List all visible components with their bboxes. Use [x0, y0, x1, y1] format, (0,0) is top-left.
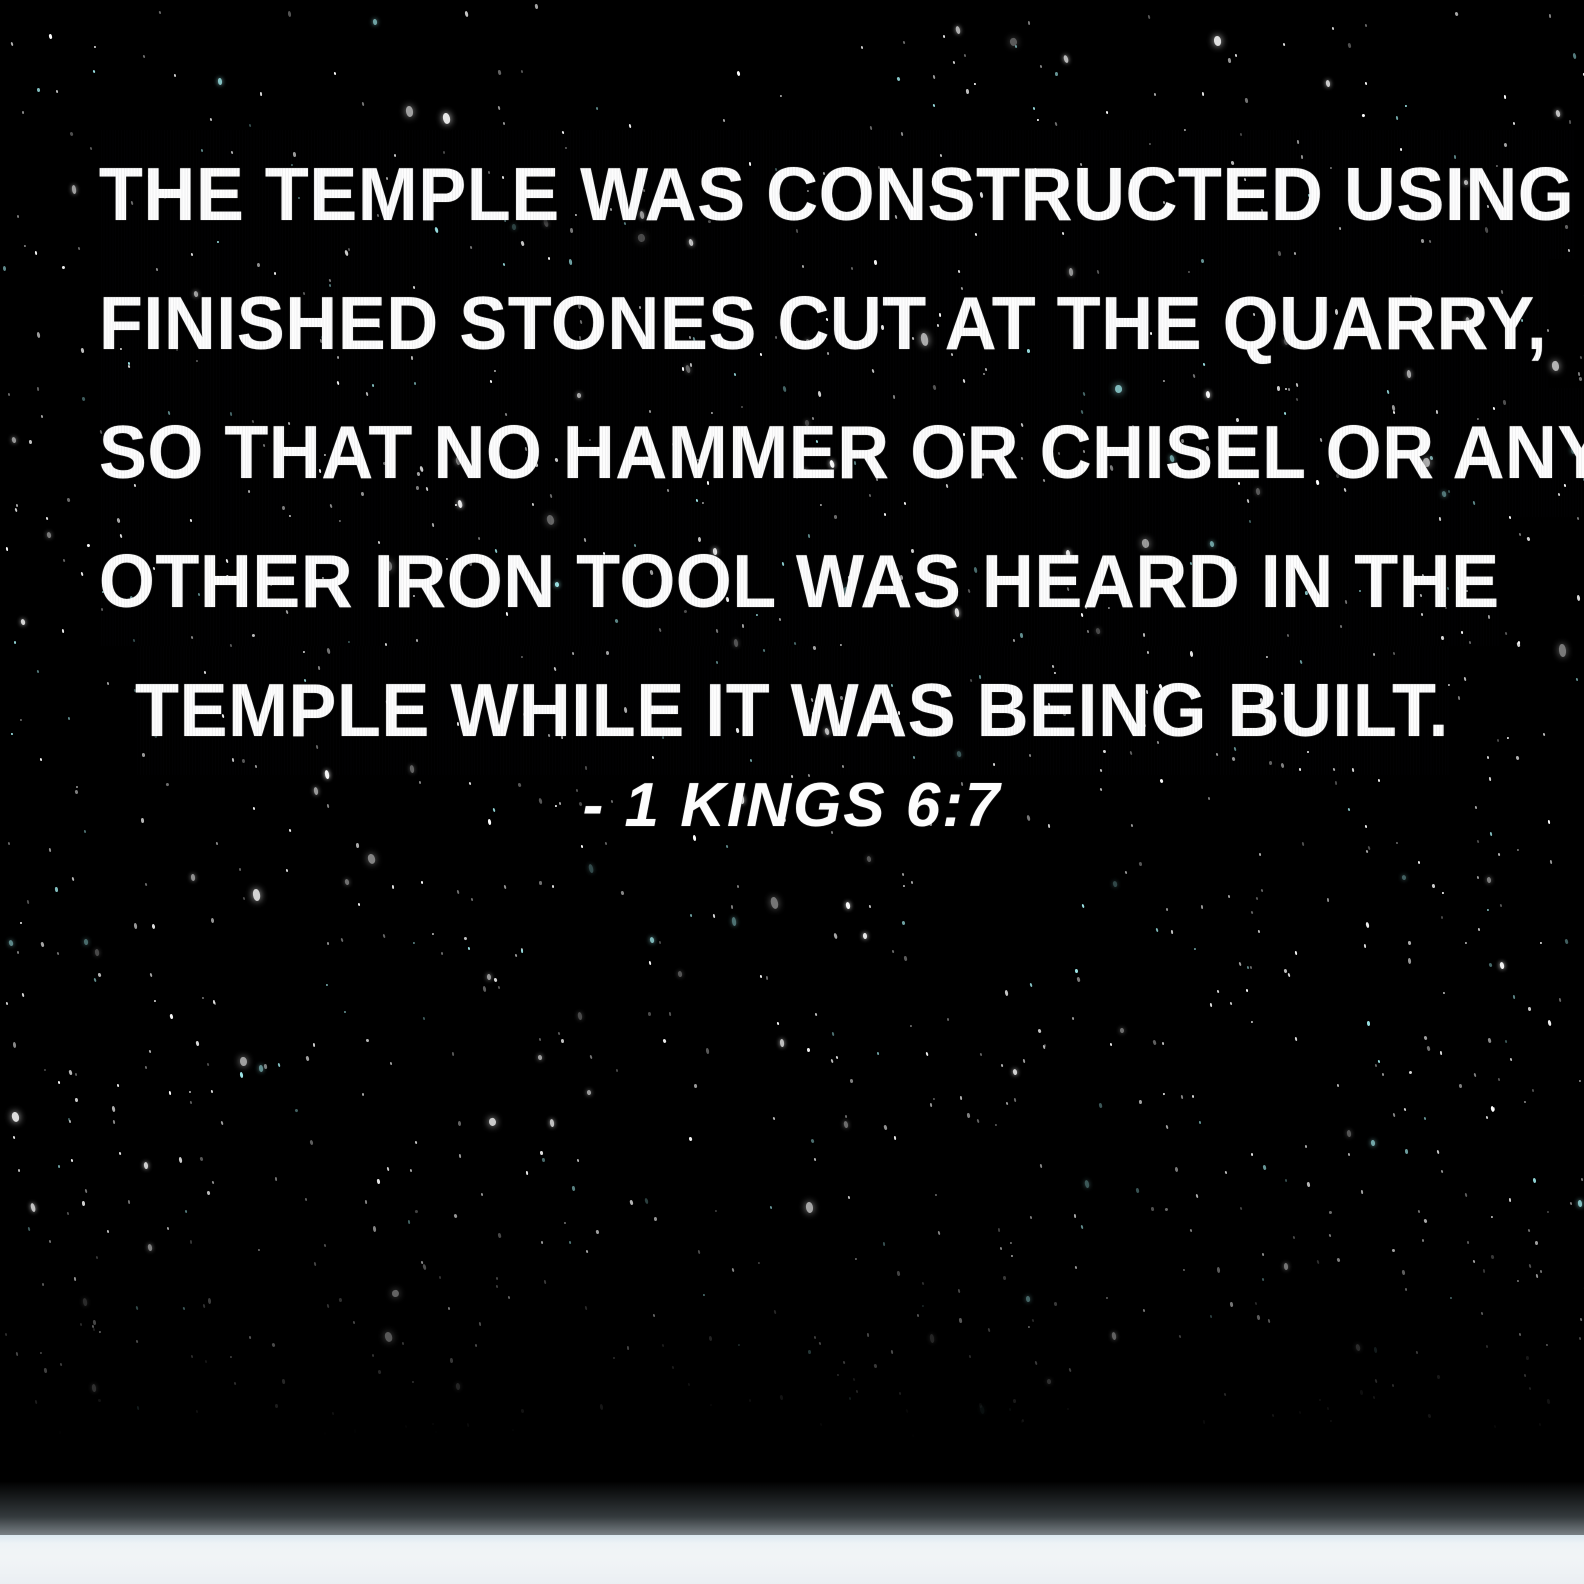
star — [678, 971, 683, 977]
star — [850, 1078, 854, 1082]
star — [586, 1250, 589, 1253]
star — [295, 1109, 299, 1113]
star — [814, 1336, 816, 1339]
star — [1517, 849, 1519, 852]
star — [95, 949, 100, 956]
star — [644, 1198, 649, 1204]
star — [43, 1367, 47, 1373]
star — [80, 1323, 82, 1326]
verse-line-2-text: FINISHED STONES CUT AT THE QUARRY, — [99, 259, 1547, 388]
star — [1250, 966, 1253, 970]
star — [819, 1342, 822, 1346]
star — [42, 1283, 44, 1286]
star — [1068, 1368, 1071, 1372]
star — [221, 1121, 224, 1125]
star — [496, 1276, 498, 1279]
star — [1483, 1268, 1485, 1272]
star — [74, 1072, 76, 1075]
star — [564, 1221, 566, 1223]
star — [689, 1137, 693, 1141]
star — [894, 1136, 897, 1140]
star — [876, 1052, 879, 1055]
star — [1106, 111, 1108, 114]
verse-line-1: THE TEMPLE WAS CONSTRUCTED USING — [99, 130, 1485, 259]
star — [1427, 1414, 1431, 1419]
star — [343, 1010, 345, 1012]
star — [705, 1048, 709, 1054]
star — [862, 933, 867, 940]
star — [309, 1140, 313, 1146]
star — [1138, 862, 1142, 867]
star — [1441, 891, 1443, 894]
star — [378, 1370, 382, 1375]
star — [92, 1328, 95, 1332]
star — [860, 46, 862, 49]
star — [1407, 940, 1411, 944]
star — [421, 881, 423, 884]
star — [183, 1307, 186, 1311]
star — [1288, 972, 1291, 976]
star — [539, 1038, 541, 1041]
star — [1365, 82, 1368, 85]
star — [1259, 853, 1261, 856]
star — [1262, 1165, 1266, 1170]
star — [1029, 1216, 1032, 1219]
star — [258, 1065, 263, 1072]
star — [1209, 1003, 1212, 1007]
verse-line-3-text: SO THAT NO HAMMER OR CHISEL OR ANY — [99, 388, 1584, 517]
star — [91, 1384, 96, 1393]
star — [452, 1051, 455, 1055]
star — [481, 1192, 483, 1195]
star — [1473, 1073, 1476, 1077]
star — [820, 1422, 823, 1425]
star — [1472, 1260, 1475, 1263]
star — [324, 1244, 327, 1247]
star — [1191, 1094, 1193, 1097]
star — [1179, 1335, 1182, 1339]
star — [1360, 1190, 1363, 1194]
star — [1032, 106, 1034, 109]
star — [560, 1039, 563, 1044]
star — [697, 1250, 700, 1254]
star — [994, 1124, 996, 1127]
star — [1136, 1188, 1140, 1193]
star — [326, 984, 328, 987]
star — [1564, 938, 1568, 943]
star — [503, 122, 505, 125]
star — [1151, 1206, 1155, 1210]
star — [1228, 895, 1231, 898]
star — [1558, 998, 1561, 1002]
star — [731, 1268, 734, 1272]
star — [432, 932, 434, 935]
star — [58, 1165, 60, 1168]
star — [1505, 1040, 1508, 1043]
star — [1499, 962, 1505, 970]
star — [362, 1093, 364, 1096]
star — [1148, 15, 1151, 19]
verse-line-4-text: OTHER IRON TOOL WAS HEARD IN THE — [99, 517, 1500, 646]
star — [372, 1353, 374, 1356]
star — [963, 54, 966, 58]
star — [1202, 92, 1205, 96]
star — [1012, 1068, 1018, 1075]
star — [1478, 928, 1480, 932]
star — [757, 1262, 760, 1265]
star — [1459, 1083, 1463, 1088]
star — [974, 83, 976, 86]
star — [1512, 995, 1515, 999]
star — [1526, 1356, 1530, 1361]
star — [1110, 1043, 1112, 1046]
star — [11, 41, 14, 45]
star — [313, 1262, 316, 1266]
star — [423, 1017, 426, 1021]
star — [847, 1196, 850, 1200]
star — [853, 1378, 856, 1381]
verse-line-3: SO THAT NO HAMMER OR CHISEL OR ANY — [99, 388, 1485, 517]
star — [650, 936, 656, 943]
star — [312, 1043, 314, 1047]
star — [152, 924, 156, 929]
star — [508, 1295, 511, 1298]
star — [1440, 1170, 1443, 1173]
star — [1527, 1229, 1530, 1232]
star — [987, 1327, 990, 1331]
star — [1539, 1270, 1541, 1273]
star — [206, 1191, 210, 1195]
star — [830, 1058, 833, 1062]
star — [340, 937, 343, 941]
star — [902, 40, 905, 43]
star — [1027, 21, 1030, 25]
star — [1067, 1408, 1069, 1411]
star — [1239, 962, 1242, 966]
star — [1382, 1073, 1384, 1076]
star — [1535, 1274, 1538, 1278]
star — [1528, 1007, 1532, 1011]
star — [1229, 1302, 1233, 1307]
star — [30, 1203, 37, 1213]
star — [1524, 1374, 1527, 1377]
star — [1054, 122, 1057, 126]
star — [726, 845, 729, 848]
star — [1465, 942, 1467, 945]
star — [96, 1256, 99, 1260]
star — [1329, 1234, 1332, 1238]
star — [249, 1336, 251, 1339]
star — [1201, 905, 1203, 909]
star — [1210, 1315, 1213, 1318]
star — [558, 1031, 561, 1034]
star — [1228, 58, 1232, 64]
star — [190, 874, 195, 881]
star — [1081, 903, 1084, 907]
star — [577, 1011, 583, 1020]
star — [832, 1032, 835, 1036]
star — [1250, 910, 1253, 913]
star — [1261, 1278, 1263, 1281]
star — [17, 951, 19, 954]
star — [1111, 1332, 1117, 1341]
star — [8, 939, 14, 946]
star — [773, 1117, 776, 1121]
star — [1022, 1419, 1025, 1423]
star — [252, 888, 260, 900]
star — [391, 885, 393, 889]
star — [1046, 1379, 1051, 1385]
star — [1579, 1337, 1582, 1340]
star — [202, 1304, 205, 1308]
star — [191, 1355, 194, 1358]
star — [1256, 1315, 1260, 1321]
star — [910, 1025, 912, 1028]
star — [1499, 904, 1502, 908]
star — [912, 1433, 915, 1436]
star — [1577, 1200, 1582, 1208]
star — [150, 972, 153, 976]
star — [1416, 1350, 1419, 1354]
star — [1404, 1108, 1407, 1112]
star — [1408, 958, 1412, 964]
star — [185, 1210, 187, 1213]
star — [1498, 852, 1501, 855]
star — [1190, 1228, 1193, 1232]
star — [1028, 1326, 1031, 1329]
star — [113, 1119, 116, 1123]
star — [366, 1039, 369, 1043]
star — [1014, 1097, 1017, 1101]
star — [1000, 1063, 1003, 1066]
star — [1282, 42, 1285, 45]
star — [708, 1336, 712, 1341]
star — [68, 1070, 72, 1076]
star — [1054, 72, 1058, 77]
star — [777, 1022, 780, 1025]
star — [1037, 118, 1039, 121]
star — [1283, 969, 1287, 974]
star — [621, 890, 625, 895]
star — [1359, 1390, 1363, 1396]
star — [233, 1381, 236, 1384]
star — [1074, 1214, 1076, 1218]
star — [1395, 116, 1398, 120]
star — [1239, 1207, 1242, 1210]
star — [1374, 1379, 1377, 1383]
star — [20, 922, 23, 925]
star — [1327, 1407, 1330, 1411]
star — [207, 1298, 211, 1304]
star — [1569, 120, 1571, 124]
star — [957, 1289, 960, 1293]
star — [1405, 1287, 1407, 1290]
star — [134, 923, 138, 929]
star — [1244, 98, 1248, 104]
star — [922, 1281, 925, 1284]
star — [1488, 1037, 1492, 1042]
star — [93, 70, 96, 73]
star — [1534, 1240, 1537, 1244]
star — [498, 70, 502, 75]
star — [1074, 1266, 1077, 1270]
star — [70, 1158, 73, 1162]
star — [1485, 1345, 1488, 1348]
star — [1417, 1209, 1420, 1213]
star — [147, 1244, 153, 1252]
star — [904, 956, 908, 961]
star — [410, 1169, 413, 1173]
star — [551, 885, 553, 888]
star — [1405, 105, 1407, 108]
star — [917, 1314, 919, 1317]
star — [16, 1352, 19, 1356]
star — [1216, 1267, 1220, 1273]
star — [204, 1360, 207, 1364]
star — [494, 977, 498, 981]
star — [1262, 1253, 1265, 1256]
star — [1549, 859, 1552, 863]
star — [1437, 1149, 1440, 1153]
verse-line-2: FINISHED STONES CUT AT THE QUARRY, — [99, 259, 1485, 388]
star — [1545, 1343, 1547, 1346]
star — [1370, 1140, 1375, 1147]
star — [613, 1357, 615, 1359]
star — [805, 1201, 813, 1213]
star — [1580, 1317, 1583, 1320]
star — [1010, 1254, 1012, 1257]
star — [6, 1002, 9, 1006]
star — [239, 868, 241, 871]
star — [688, 1383, 691, 1387]
star — [1423, 1219, 1427, 1224]
star — [869, 905, 872, 909]
star — [1532, 1089, 1534, 1093]
star — [873, 1364, 877, 1369]
star — [1538, 1423, 1540, 1427]
star — [448, 1307, 450, 1310]
star — [1181, 1094, 1184, 1098]
star — [326, 1304, 329, 1308]
star — [669, 1012, 672, 1016]
star — [892, 950, 895, 953]
star — [814, 1157, 817, 1160]
star — [365, 1200, 367, 1204]
star — [413, 942, 415, 945]
star — [1547, 1398, 1551, 1404]
star — [387, 1167, 390, 1171]
star — [327, 942, 329, 945]
star — [1491, 1215, 1494, 1218]
star — [281, 1379, 285, 1384]
star — [1213, 36, 1221, 47]
star — [450, 1358, 454, 1364]
star — [1402, 874, 1408, 880]
star — [837, 1374, 839, 1377]
star — [304, 1198, 307, 1201]
star — [495, 1285, 497, 1288]
star — [1580, 1177, 1583, 1180]
star — [352, 1321, 354, 1325]
star — [866, 855, 872, 862]
star — [661, 1344, 664, 1348]
star — [998, 1228, 1000, 1232]
star — [67, 1211, 70, 1215]
star — [569, 1240, 572, 1243]
star — [1424, 1036, 1428, 1040]
star — [589, 1054, 592, 1058]
star — [441, 952, 443, 955]
star — [1372, 1395, 1375, 1398]
star — [1477, 876, 1480, 880]
star — [902, 920, 906, 925]
star — [690, 914, 692, 917]
star — [464, 10, 468, 16]
star — [149, 1049, 152, 1052]
star — [1327, 898, 1329, 902]
star — [932, 1098, 934, 1101]
star — [1487, 876, 1492, 883]
star — [1099, 1103, 1103, 1108]
star — [74, 1277, 77, 1281]
star — [616, 1069, 618, 1072]
star — [1408, 1071, 1412, 1075]
star — [1163, 1093, 1166, 1096]
star — [497, 986, 500, 989]
verse-line-1-text: THE TEMPLE WAS CONSTRUCTED USING — [99, 130, 1574, 259]
star — [243, 897, 246, 900]
star — [1318, 1399, 1320, 1402]
star — [412, 1380, 414, 1383]
star — [1437, 1375, 1441, 1379]
star — [1202, 1420, 1205, 1424]
verse-image-canvas: THE TEMPLE WAS CONSTRUCTED USING FINISHE… — [0, 0, 1584, 1584]
star — [8, 842, 11, 846]
star — [933, 74, 936, 78]
star — [1154, 93, 1156, 96]
star — [897, 77, 901, 82]
star — [1023, 1059, 1026, 1063]
star — [543, 1280, 546, 1284]
star — [843, 1121, 849, 1129]
star — [1325, 80, 1331, 88]
star — [899, 1391, 901, 1394]
star — [487, 974, 492, 981]
star — [1175, 1166, 1179, 1171]
star — [959, 1096, 961, 1100]
star — [1374, 1347, 1378, 1353]
star — [511, 1429, 513, 1432]
star — [946, 1017, 948, 1020]
star — [48, 34, 52, 39]
star — [1119, 1028, 1124, 1034]
star — [538, 881, 541, 885]
star — [1547, 1020, 1551, 1026]
star — [463, 936, 467, 940]
star — [844, 1115, 846, 1118]
star — [537, 1055, 542, 1061]
star — [897, 1271, 901, 1276]
star — [584, 1306, 587, 1310]
ground-plane — [0, 1535, 1584, 1584]
star — [1481, 1312, 1484, 1315]
star — [217, 78, 222, 86]
star — [1368, 846, 1371, 850]
star — [422, 1264, 427, 1271]
star — [260, 92, 262, 96]
star — [935, 1194, 937, 1197]
star — [1332, 27, 1334, 31]
